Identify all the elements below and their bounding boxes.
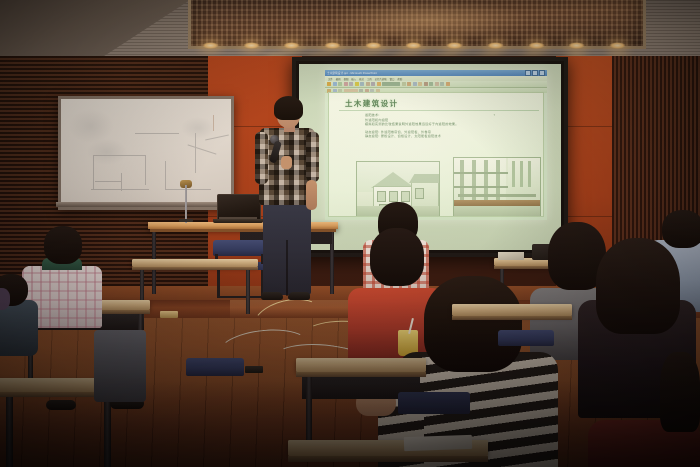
downlight-row-front	[190, 40, 638, 51]
presenter-forearm-right	[306, 180, 317, 210]
menu-item[interactable]: 幻灯片放映	[375, 77, 387, 81]
presenter-hand	[281, 156, 292, 169]
toolbar-icon[interactable]	[424, 82, 428, 86]
menu-item[interactable]: 帮助	[397, 77, 402, 81]
student-head	[370, 228, 424, 286]
slide-canvas: 土木建筑设计 7 遮阳技术: 外遮阳和内遮阳 模拟和实测的比较结果说明外遮阳效果…	[328, 92, 544, 217]
menu-item[interactable]: 插入	[351, 77, 356, 81]
laptop-keyboard-base[interactable]	[213, 219, 263, 223]
toolbar-icon[interactable]	[429, 82, 433, 86]
downlight-icon	[202, 42, 219, 49]
student-long-hair	[596, 238, 680, 334]
papers	[404, 435, 472, 451]
slide-title-rule	[339, 110, 539, 111]
toolbar-icon[interactable]	[402, 82, 406, 86]
menu-item[interactable]: 编辑	[336, 77, 341, 81]
downlight-icon	[446, 42, 463, 49]
whiteboard-marker-tray	[56, 202, 230, 207]
downlight-icon	[568, 42, 585, 49]
microphone-stand-base	[179, 219, 193, 222]
downlight-icon	[324, 42, 341, 49]
toolbar-icon[interactable]	[333, 82, 337, 86]
slide-title: 土木建筑设计	[345, 98, 398, 109]
downlight-icon	[365, 42, 382, 49]
presenter-hair	[274, 96, 303, 120]
downlight-icon	[609, 42, 626, 49]
toolbar-icon[interactable]	[382, 82, 400, 86]
menu-item[interactable]: 窗口	[390, 77, 395, 81]
toolbar-icon[interactable]	[366, 82, 370, 86]
floor-outlet-plate	[160, 311, 178, 318]
presenter-arm-right	[306, 132, 319, 182]
student-trousers	[94, 330, 146, 402]
toolbar-icon[interactable]	[407, 82, 411, 86]
ceiling-panel-glow	[327, 0, 530, 41]
toolbar-icon[interactable]	[371, 82, 375, 86]
whiteboard-marks	[65, 103, 227, 203]
presenter-arm-left	[255, 132, 268, 184]
presenter-shoe-right	[288, 292, 310, 300]
cable-adapter-box	[245, 366, 263, 373]
toolbar-icon[interactable]	[440, 82, 444, 86]
downlight-icon	[283, 42, 300, 49]
app-title-text: 土木建筑设计.ppt - Microsoft PowerPoint	[327, 71, 377, 75]
student-head	[44, 226, 82, 264]
downlight-icon	[528, 42, 545, 49]
toolbar-icon[interactable]	[355, 82, 359, 86]
slide-body-line: 静态遮阳: 屋檐设计、窗檐设计、太阳能板遮阳技术	[365, 134, 533, 139]
downlight-icon	[243, 42, 260, 49]
microphone-stand-pole	[185, 185, 187, 223]
toolbar-icon[interactable]	[413, 82, 417, 86]
projection-surface: 土木建筑设计.ppt - Microsoft PowerPoint 文件 编辑 …	[299, 64, 561, 250]
presenter-trouser-seam	[286, 240, 288, 296]
student-hair	[424, 276, 522, 372]
menu-item[interactable]: 文件	[328, 77, 333, 81]
toolbar-icon[interactable]	[418, 82, 422, 86]
projected-application-window[interactable]: 土木建筑设计.ppt - Microsoft PowerPoint 文件 编辑 …	[325, 70, 547, 220]
slide-body-text: 遮阳技术: 外遮阳和内遮阳 模拟和实测的比较结果说明外遮阳效果远远好于内遮阳的效…	[365, 113, 533, 139]
toolbar-icon[interactable]	[327, 82, 331, 86]
app-toolbar-row-1[interactable]	[325, 81, 547, 88]
menu-item[interactable]: 视图	[344, 77, 349, 81]
lecture-hall-photo: 土木建筑设计.ppt - Microsoft PowerPoint 文件 编辑 …	[0, 0, 700, 467]
downlight-icon	[405, 42, 422, 49]
toolbar-icon[interactable]	[349, 82, 353, 86]
toolbar-icon[interactable]	[338, 82, 342, 86]
balcony-building-photo	[453, 157, 541, 217]
toolbar-icon[interactable]	[344, 82, 348, 86]
student-head	[660, 352, 700, 432]
toolbar-icon[interactable]	[435, 82, 439, 86]
student-shoe	[46, 400, 76, 410]
menu-item[interactable]: 格式	[359, 77, 364, 81]
notebook	[498, 252, 524, 260]
toolbar-icon[interactable]	[446, 82, 450, 86]
whiteboard	[58, 96, 234, 210]
maximize-icon[interactable]	[532, 70, 538, 76]
downlight-icon	[487, 42, 504, 49]
student-head	[662, 210, 700, 248]
menu-item[interactable]: 工具	[367, 77, 372, 81]
toolbar-icon[interactable]	[360, 82, 364, 86]
presenter-shoe-left	[261, 292, 283, 300]
close-icon[interactable]	[539, 70, 545, 76]
minimize-icon[interactable]	[525, 70, 531, 76]
toolbar-icon[interactable]	[377, 82, 381, 86]
window-controls[interactable]	[525, 70, 545, 76]
